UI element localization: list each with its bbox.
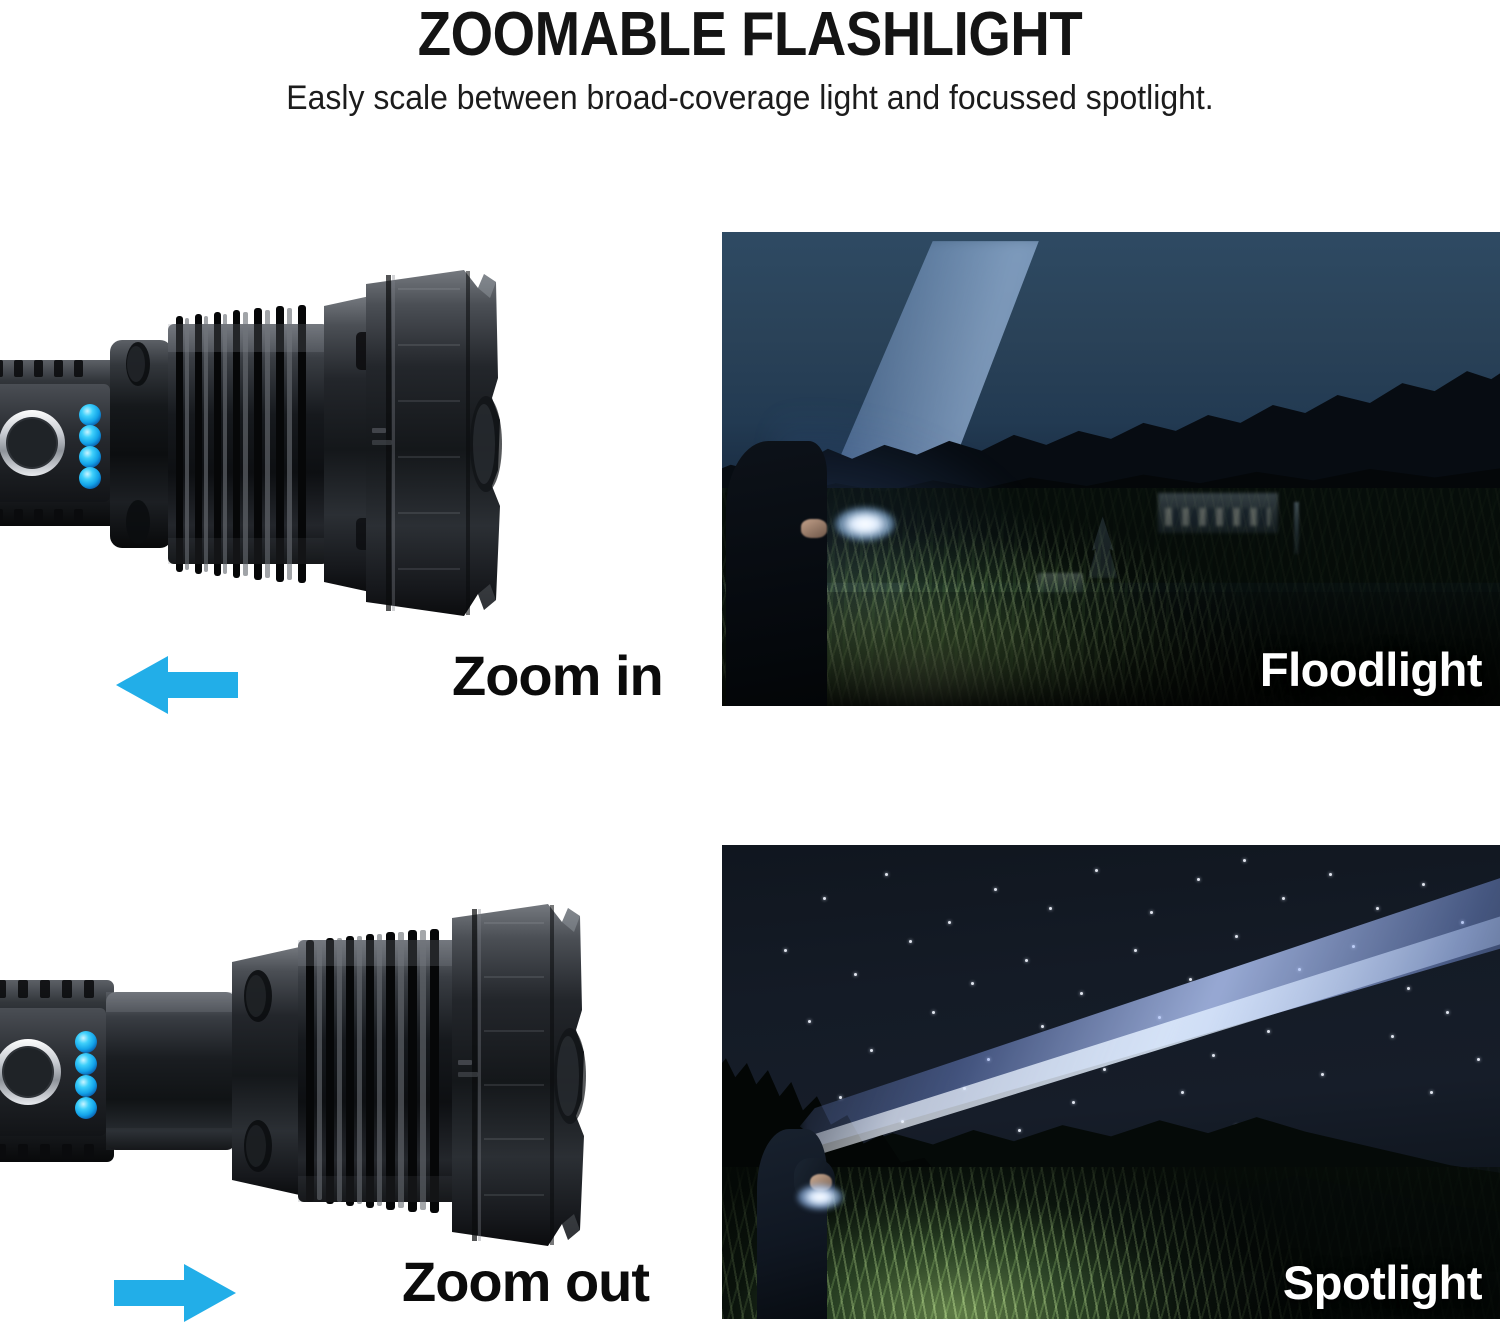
power-button <box>0 410 65 476</box>
floodlight-caption: Floodlight <box>1260 642 1482 698</box>
page-title: ZOOMABLE FLASHLIGHT <box>90 0 1410 68</box>
zoom-out-label: Zoom out <box>402 1252 649 1312</box>
header: ZOOMABLE FLASHLIGHT Easly scale between … <box>0 0 1500 118</box>
retracted-barrel <box>106 992 236 1150</box>
arrow-right-icon <box>110 1258 240 1328</box>
floodlight-photo: Floodlight <box>722 232 1500 706</box>
beam-origin-hotspot <box>797 1184 843 1210</box>
product-image-zoom-in <box>0 248 558 640</box>
spotlight-photo: Spotlight <box>722 845 1500 1319</box>
infographic-page: ZOOMABLE FLASHLIGHT Easly scale between … <box>0 0 1500 1329</box>
beam-origin-hotspot <box>835 507 895 541</box>
zoom-in-label: Zoom in <box>452 646 663 706</box>
flashlight-extended-illustration <box>0 248 558 640</box>
flashlight-retracted-illustration <box>0 884 686 1256</box>
hand-holding-torch <box>801 519 827 538</box>
product-image-zoom-out <box>0 884 686 1256</box>
spotlight-caption: Spotlight <box>1283 1255 1482 1311</box>
page-subtitle: Easly scale between broad-coverage light… <box>45 68 1455 118</box>
arrow-left-icon <box>112 650 242 720</box>
person-silhouette <box>726 441 827 706</box>
